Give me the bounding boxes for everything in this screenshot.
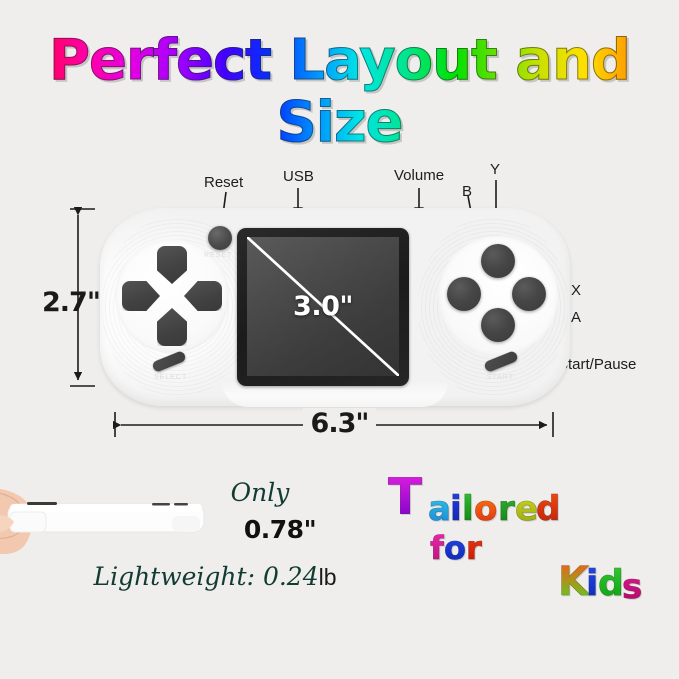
button-x[interactable] xyxy=(512,277,546,311)
callout-label-usb: USB xyxy=(283,168,314,185)
for-letter-f: f xyxy=(430,532,444,564)
tailored-for-kids-graphic: TailoredforKids xyxy=(380,470,670,620)
for-letter-r: r xyxy=(466,532,482,564)
dpad[interactable] xyxy=(124,248,220,344)
tailored-letter-e: e xyxy=(515,492,538,526)
thickness-prefix-label: Only xyxy=(200,478,320,507)
thickness-value-label: 0.78" xyxy=(220,515,340,544)
width-dimension-wrap: 6.3" xyxy=(0,408,679,439)
callout-label-y: Y xyxy=(490,161,500,178)
page-title: Perfect Layout and Size xyxy=(0,30,679,154)
callout-label-reset: Reset xyxy=(204,174,243,191)
kids-letter-k: K xyxy=(558,562,589,602)
screen-size-label: 3.0" xyxy=(247,290,399,321)
height-dimension-label: 2.7" xyxy=(42,287,100,318)
kids-letter-i: i xyxy=(586,566,598,602)
callout-label-volume: Volume xyxy=(394,167,444,184)
select-microlabel: SELECT xyxy=(154,374,187,381)
handheld-console-illustration: RESET 3.0" SELECT START xyxy=(100,208,570,406)
weight-line: Lightweight: 0.24lb xyxy=(60,562,370,591)
callout-label-x: X xyxy=(571,282,581,299)
callout-label-b: B xyxy=(462,183,472,200)
tailored-letter-i: i xyxy=(450,492,462,526)
action-button-cluster[interactable] xyxy=(448,246,548,346)
for-letter-o: o xyxy=(444,532,466,564)
tailored-letter-d: d xyxy=(536,492,560,526)
button-a[interactable] xyxy=(481,308,515,342)
screen-bezel: 3.0" xyxy=(237,228,409,386)
tailored-letter-l: l xyxy=(462,492,474,526)
weight-label: Lightweight: 0.24 xyxy=(93,562,318,591)
start-microlabel: START xyxy=(487,374,514,381)
tailored-letter-r: r xyxy=(498,492,515,526)
tailored-letter-t: T xyxy=(388,472,422,522)
tailored-letter-o: o xyxy=(474,492,497,526)
headline-banner: Perfect Layout and Size xyxy=(0,30,679,92)
reset-microlabel: RESET xyxy=(204,252,232,259)
reset-button[interactable] xyxy=(208,226,232,250)
button-y[interactable] xyxy=(481,244,515,278)
weight-unit: lb xyxy=(319,564,337,590)
kids-letter-d: d xyxy=(598,566,624,602)
infographic-canvas: Perfect Layout and Size xyxy=(0,0,679,679)
button-b[interactable] xyxy=(447,277,481,311)
tailored-letter-a: a xyxy=(428,492,451,526)
hand-holding-device-photo xyxy=(0,486,210,554)
width-dimension-label: 6.3" xyxy=(303,408,377,439)
callout-label-a: A xyxy=(571,309,581,326)
kids-letter-s: s xyxy=(622,570,642,604)
lcd-screen: 3.0" xyxy=(247,237,399,376)
